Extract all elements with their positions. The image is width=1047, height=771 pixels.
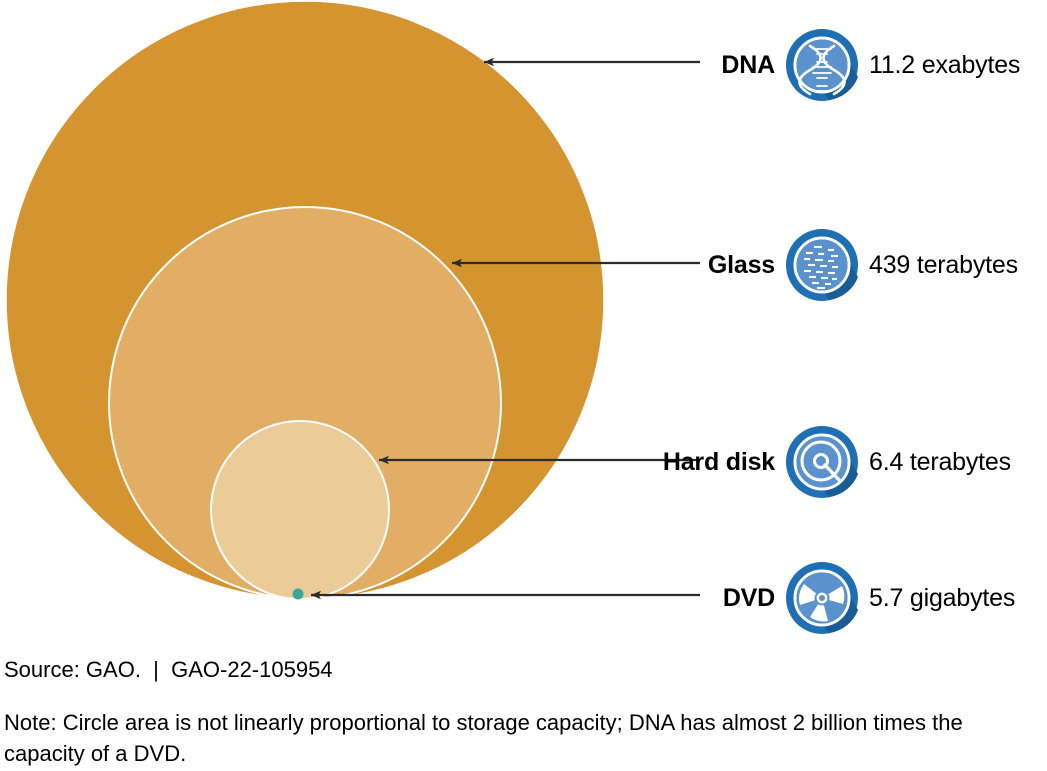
dvd-disc-icon	[784, 560, 860, 636]
legend-row-dna: DNA 11.2 exabytes	[575, 25, 1020, 105]
source-line: Source: GAO. | GAO-22-105954	[4, 655, 1044, 685]
legend-row-glass: Glass	[575, 225, 1018, 305]
legend-label-dvd: DVD	[575, 584, 775, 613]
dna-helix-icon	[784, 27, 860, 103]
glass-plate-icon	[784, 227, 860, 303]
circle-dvd	[293, 589, 304, 600]
footer: Source: GAO. | GAO-22-105954 Note: Circl…	[4, 655, 1044, 769]
legend-value-glass: 439 terabytes	[869, 251, 1018, 280]
note-line: Note: Circle area is not linearly propor…	[4, 707, 1004, 769]
legend-row-hard-disk: Hard disk 6.4 terabytes	[575, 422, 1011, 502]
legend-value-hard-disk: 6.4 terabytes	[869, 448, 1011, 477]
legend-label-glass: Glass	[575, 251, 775, 280]
circle-hard-disk	[211, 421, 389, 599]
hard-disk-icon	[784, 424, 860, 500]
legend-label-hard-disk: Hard disk	[575, 448, 775, 477]
legend-value-dna: 11.2 exabytes	[869, 51, 1020, 80]
legend-label-dna: DNA	[575, 51, 775, 80]
legend-row-dvd: DVD 5.7 gigabytes	[575, 558, 1015, 638]
legend-value-dvd: 5.7 gigabytes	[869, 584, 1015, 613]
